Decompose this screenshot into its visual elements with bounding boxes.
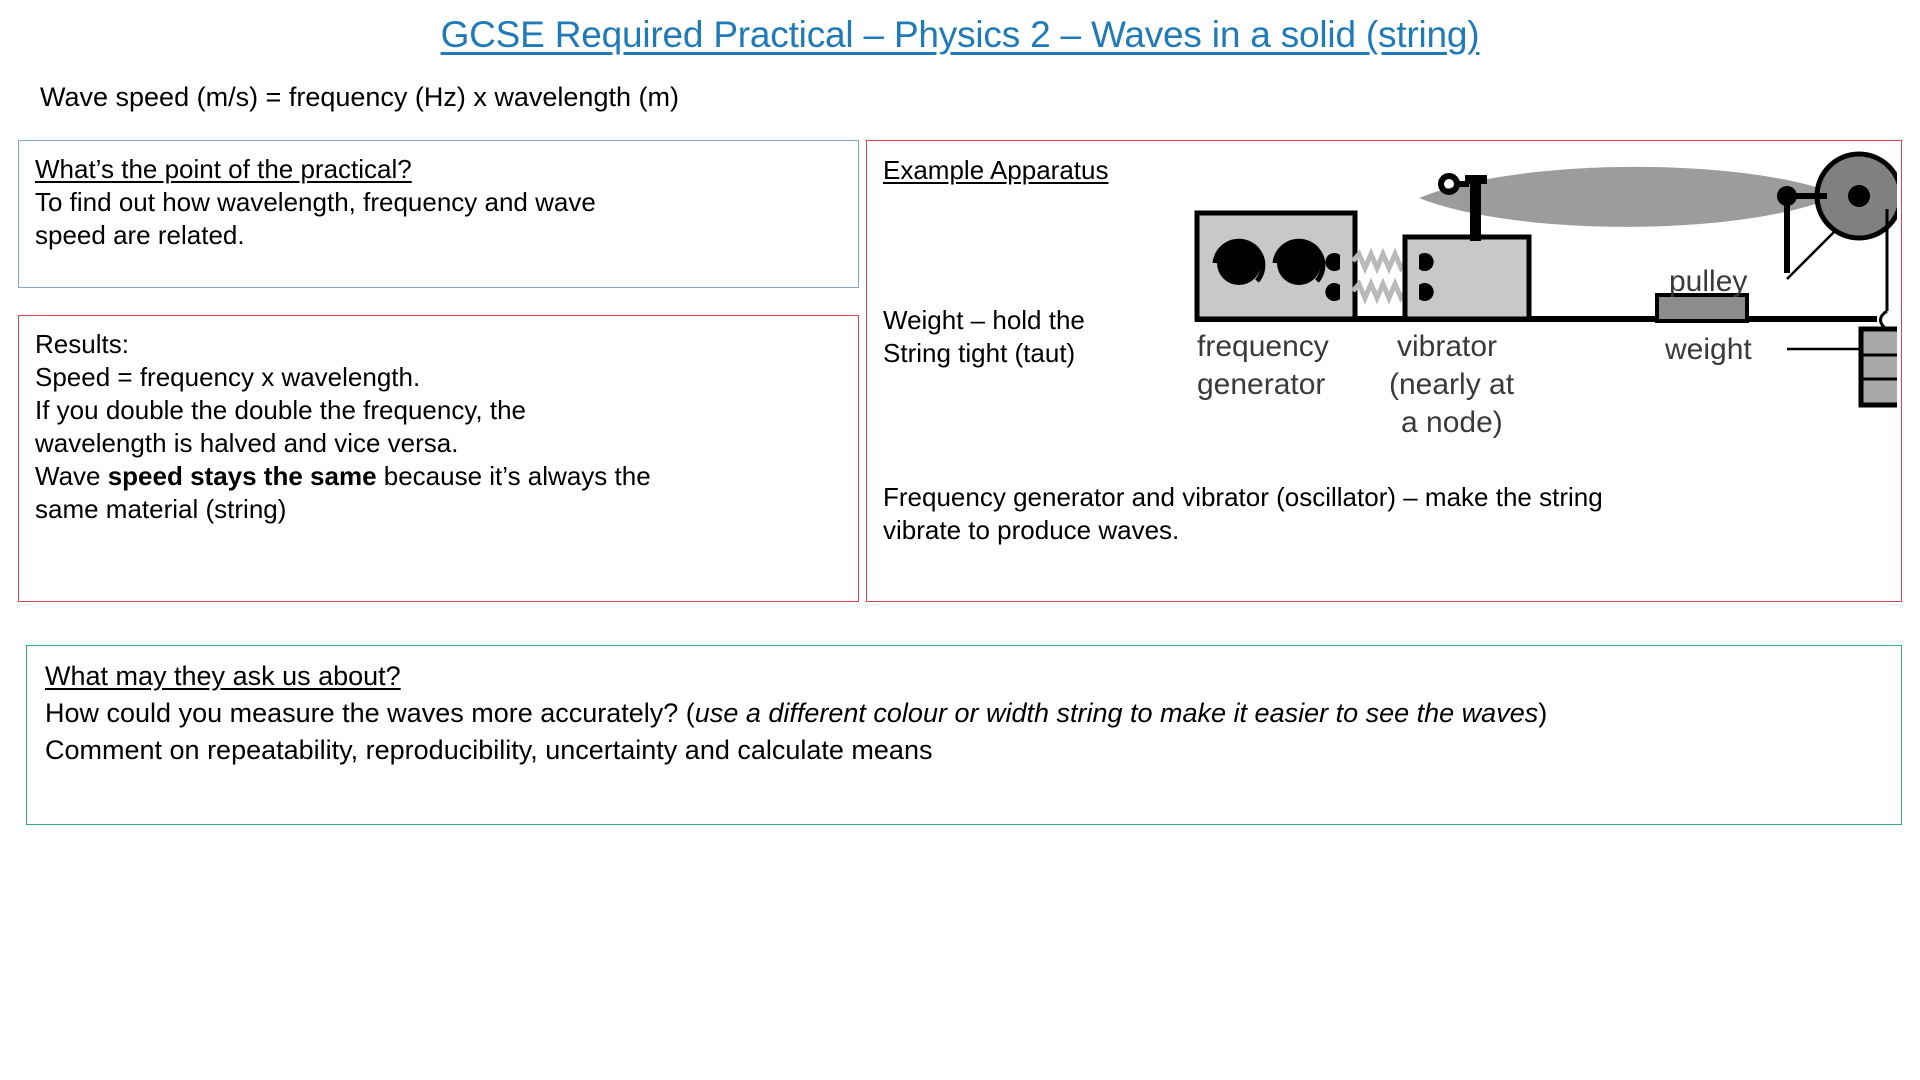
results-line-4: Wave speed stays the same because it’s a… [35,460,844,493]
apparatus-diagram: frequency generator vibrator (nearly at … [1187,151,1897,481]
pulley-axle [1848,185,1870,207]
label-weight: weight [1664,333,1752,366]
questions-line-2: Comment on repeatability, reproducibilit… [45,732,1887,769]
apparatus-heading: Example Apparatus [883,154,1108,187]
generator-note-line-2: vibrate to produce waves. [883,514,1883,547]
results-line-3: wavelength is halved and vice versa. [35,427,844,460]
questions-line-1: How could you measure the waves more acc… [45,695,1887,732]
label-pulley: pulley [1669,265,1747,298]
questions-line-1-italic: use a different colour or width string t… [695,698,1538,728]
purpose-line-2: speed are related. [35,219,844,252]
results-heading: Results: [35,328,844,361]
questions-heading: What may they ask us about? [45,658,1887,695]
label-vibrator-line-1: vibrator [1397,330,1497,363]
label-vibrator-line-2: (nearly at [1389,368,1515,401]
hanging-weight [1861,329,1897,405]
generator-note: Frequency generator and vibrator (oscill… [883,481,1883,547]
label-vibrator-line-3: a node) [1401,406,1503,439]
pulley-leader-line [1787,231,1835,279]
weight-note-line-2: String tight (taut) [883,337,1183,370]
results-line-2: If you double the double the frequency, … [35,394,844,427]
results-line-4-bold: speed stays the same [108,461,377,491]
vibrator-peg-eye [1441,176,1457,192]
wire-top [1353,254,1407,268]
weight-note-line-1: Weight – hold the [883,304,1183,337]
label-frequency-generator-line-1: frequency [1197,330,1329,363]
page-title: GCSE Required Practical – Physics 2 – Wa… [0,12,1920,58]
wave-speed-equation: Wave speed (m/s) = frequency (Hz) x wave… [40,80,679,114]
vibrator-post [1470,179,1481,241]
questions-line-1-plain: How could you measure the waves more acc… [45,698,695,728]
apparatus-box: Example Apparatus Weight – hold the Stri… [866,140,1902,602]
vibrator-body [1405,237,1529,319]
purpose-heading: What’s the point of the practical? [35,153,844,186]
slide-canvas: GCSE Required Practical – Physics 2 – Wa… [0,0,1920,1080]
wire-bottom [1353,284,1407,298]
purpose-line-1: To find out how wavelength, frequency an… [35,186,844,219]
results-line-5: same material (string) [35,493,844,526]
results-box: Results: Speed = frequency x wavelength.… [18,315,859,602]
results-line-1: Speed = frequency x wavelength. [35,361,844,394]
generator-note-line-1: Frequency generator and vibrator (oscill… [883,481,1883,514]
questions-line-1-tail: ) [1538,698,1547,728]
results-line-4-suffix: because it’s always the [377,461,651,491]
weight-note: Weight – hold the String tight (taut) [883,304,1183,370]
purpose-box: What’s the point of the practical? To fi… [18,140,859,288]
questions-box: What may they ask us about? How could yo… [26,645,1902,825]
string-hook [1880,311,1887,328]
support-block [1657,295,1747,321]
label-frequency-generator-line-2: generator [1197,368,1325,401]
results-line-4-prefix: Wave [35,461,108,491]
